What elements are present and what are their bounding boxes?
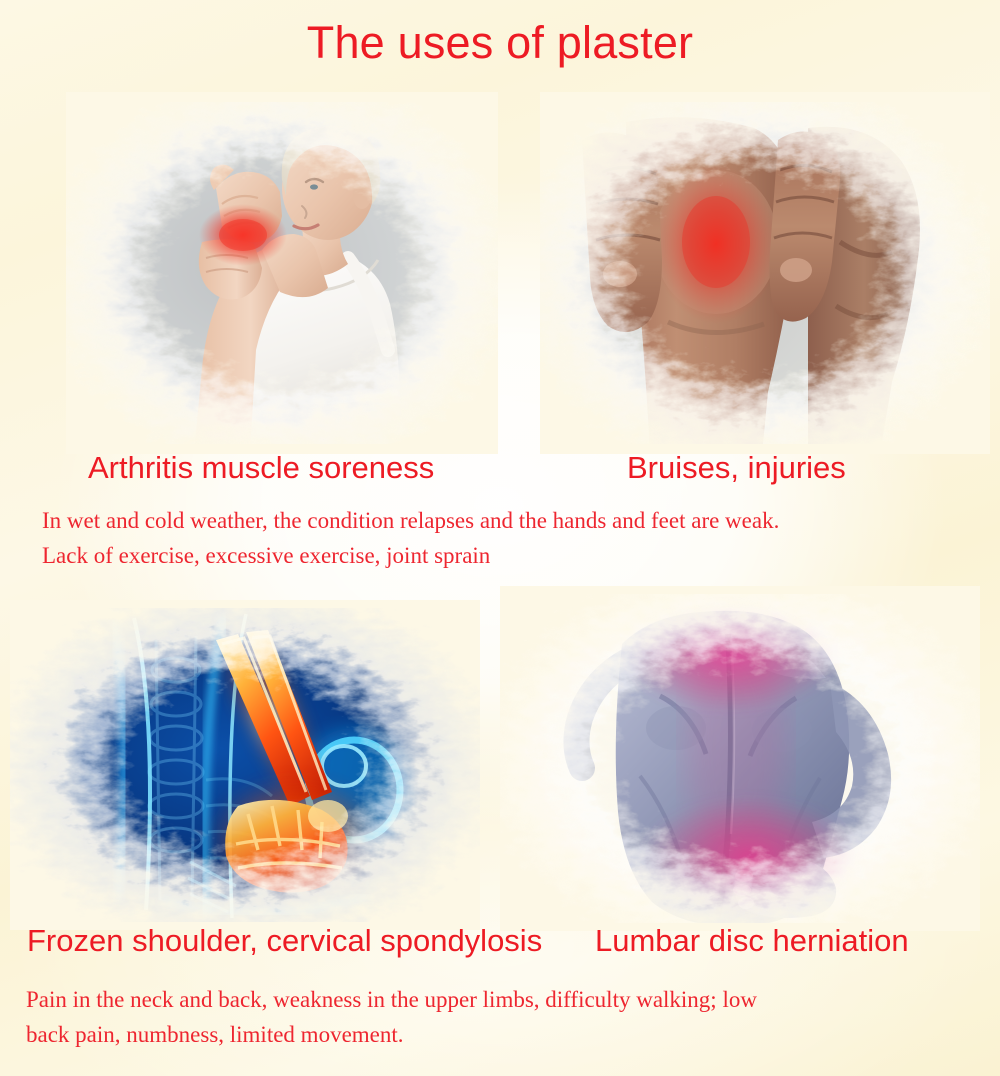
caption-bruises-injuries: Bruises, injuries	[627, 449, 846, 487]
hands-gripping-knee-illustration	[540, 92, 990, 454]
paragraph-upper-symptoms: In wet and cold weather, the condition r…	[42, 503, 962, 573]
inflamed-joint-cluster	[210, 776, 382, 900]
page-title: The uses of plaster	[0, 14, 1000, 72]
image-frozen-shoulder-xray	[10, 600, 480, 930]
woman-holding-wrist-illustration	[66, 92, 498, 454]
male-back-pain-illustration	[500, 586, 980, 931]
paragraph-lower-symptoms: Pain in the neck and back, weakness in t…	[26, 982, 956, 1052]
image-arthritis-wrist	[66, 92, 498, 454]
caption-lumbar-disc-herniation: Lumbar disc herniation	[595, 922, 909, 960]
caption-arthritis-muscle-soreness: Arthritis muscle soreness	[88, 449, 434, 487]
paragraph-line: back pain, numbness, limited movement.	[26, 1017, 956, 1052]
paragraph-line: In wet and cold weather, the condition r…	[42, 503, 962, 538]
image-knee-injury	[540, 92, 990, 454]
blue-xray-joint-illustration	[10, 600, 480, 930]
image-lumbar-back-pain	[500, 586, 980, 931]
paragraph-line: Pain in the neck and back, weakness in t…	[26, 982, 956, 1017]
infographic-page: The uses of plaster	[0, 0, 1000, 1076]
caption-frozen-shoulder: Frozen shoulder, cervical spondylosis	[27, 922, 542, 960]
paragraph-line: Lack of exercise, excessive exercise, jo…	[42, 538, 962, 573]
